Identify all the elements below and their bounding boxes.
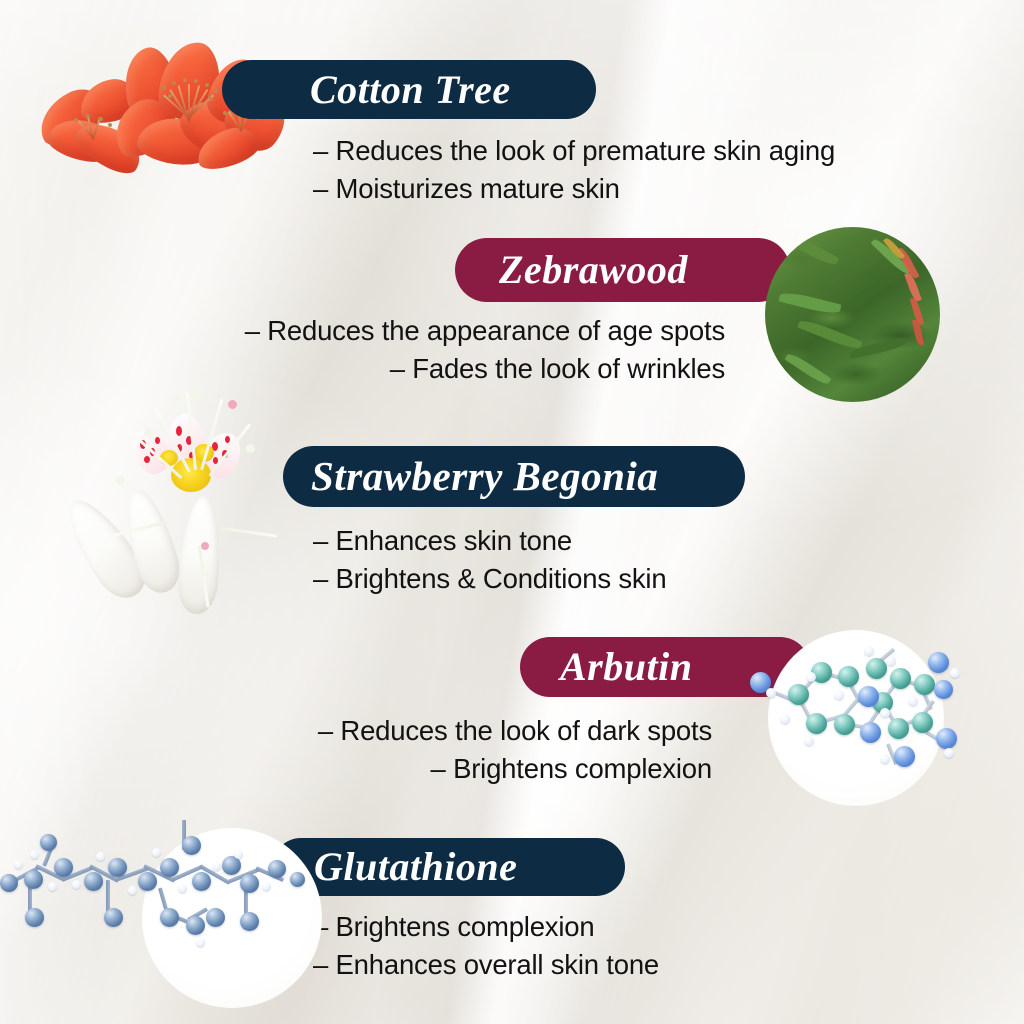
- atom: [950, 668, 960, 678]
- atom: [160, 858, 179, 877]
- atom: [908, 696, 918, 706]
- benefit-item: – Fades the look of wrinkles: [155, 350, 725, 388]
- benefit-item: – Brightens complexion: [313, 908, 659, 946]
- atom: [834, 714, 855, 735]
- benefit-item: – Reduces the look of premature skin agi…: [313, 132, 835, 170]
- atom: [804, 736, 814, 746]
- atom: [0, 874, 18, 892]
- pill-zebrawood[interactable]: Zebrawood: [455, 238, 790, 302]
- atom: [838, 666, 859, 687]
- benefits-zebrawood: – Reduces the appearance of age spots – …: [155, 312, 725, 388]
- atom: [108, 858, 127, 877]
- atom: [880, 754, 890, 764]
- atom: [138, 872, 157, 891]
- atom: [914, 674, 935, 695]
- atom: [894, 746, 915, 767]
- atom: [240, 912, 259, 931]
- pill-glutathione[interactable]: Glutathione: [272, 838, 625, 896]
- atom: [268, 860, 286, 878]
- atom: [54, 858, 73, 877]
- atom: [234, 850, 243, 859]
- atom: [262, 882, 271, 891]
- atom: [936, 728, 957, 749]
- atom: [834, 690, 844, 700]
- atom: [766, 688, 776, 698]
- atom: [192, 872, 211, 891]
- pill-label-cotton-tree: Cotton Tree: [310, 70, 511, 110]
- atom: [944, 748, 954, 758]
- atom: [890, 668, 911, 689]
- glutathione-molecule-image: [0, 820, 320, 1010]
- benefit-item: – Brightens & Conditions skin: [313, 560, 666, 598]
- atom: [912, 712, 933, 733]
- pill-label-zebrawood: Zebrawood: [499, 250, 688, 290]
- atom: [780, 714, 790, 724]
- arbutin-molecule: [768, 630, 944, 806]
- atom: [96, 852, 105, 861]
- benefit-item: – Reduces the appearance of age spots: [155, 312, 725, 350]
- atom: [178, 884, 187, 893]
- atom: [104, 908, 123, 927]
- atom: [864, 646, 874, 656]
- atom: [30, 850, 39, 859]
- benefit-item: – Brightens complexion: [160, 750, 712, 788]
- benefit-item: – Enhances skin tone: [313, 522, 666, 560]
- ingredient-benefits-infographic: Cotton Tree – Reduces the look of premat…: [0, 0, 1024, 1024]
- benefits-arbutin: – Reduces the look of dark spots – Brigh…: [160, 712, 712, 788]
- atom: [240, 874, 259, 893]
- pill-label-glutathione: Glutathione: [314, 847, 517, 887]
- strawberry-begonia-flower-image: [76, 392, 316, 617]
- atom: [290, 872, 305, 887]
- atom: [934, 680, 953, 699]
- benefits-strawberry-begonia: – Enhances skin tone – Brightens & Condi…: [313, 522, 666, 598]
- atom: [806, 672, 816, 682]
- atom: [14, 860, 23, 869]
- atom: [48, 882, 57, 891]
- arbutin-molecule-image: [768, 630, 944, 806]
- atom: [25, 908, 44, 927]
- atom: [196, 938, 205, 947]
- benefits-glutathione: – Brightens complexion – Enhances overal…: [313, 908, 659, 984]
- benefits-cotton-tree: – Reduces the look of premature skin agi…: [313, 132, 835, 208]
- atom: [860, 722, 881, 743]
- glutathione-molecule: [0, 820, 320, 1010]
- atom: [212, 862, 221, 871]
- atom: [888, 718, 909, 739]
- atom: [182, 836, 201, 855]
- atom: [40, 834, 57, 851]
- atom: [72, 880, 81, 889]
- benefit-item: – Reduces the look of dark spots: [160, 712, 712, 750]
- benefit-item: – Enhances overall skin tone: [313, 946, 659, 984]
- atom: [886, 656, 896, 666]
- atom: [206, 908, 225, 927]
- atom: [788, 684, 809, 705]
- atom: [160, 908, 179, 927]
- benefit-item: – Moisturizes mature skin: [313, 170, 835, 208]
- atom: [858, 686, 879, 707]
- zebrawood-foliage-image: [765, 227, 940, 402]
- pill-strawberry-begonia[interactable]: Strawberry Begonia: [283, 446, 745, 507]
- pill-label-arbutin: Arbutin: [560, 647, 692, 687]
- pill-cotton-tree[interactable]: Cotton Tree: [222, 60, 596, 119]
- atom: [128, 886, 137, 895]
- pill-label-strawberry-begonia: Strawberry Begonia: [311, 456, 658, 497]
- atom: [928, 652, 949, 673]
- atom: [186, 916, 205, 935]
- atom: [84, 872, 103, 891]
- atom: [880, 708, 890, 718]
- atom: [152, 848, 161, 857]
- atom: [866, 658, 887, 679]
- atom: [24, 870, 43, 889]
- atom: [806, 713, 827, 734]
